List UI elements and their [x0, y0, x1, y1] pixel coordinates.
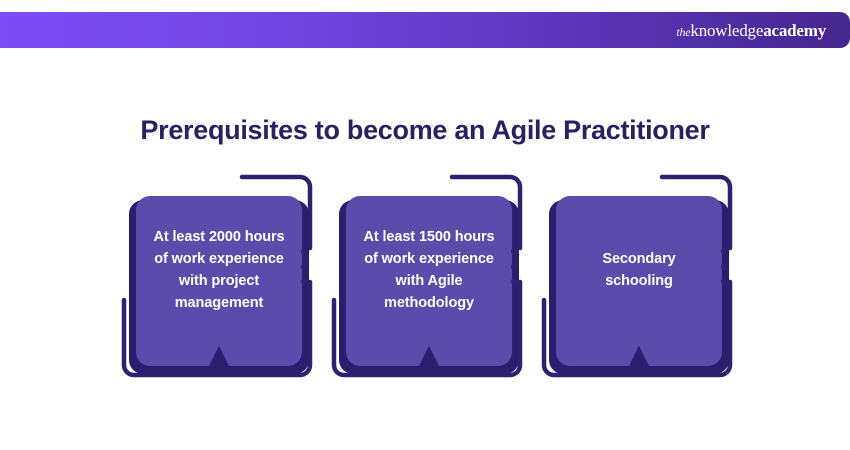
page-title: Prerequisites to become an Agile Practit… [0, 114, 850, 146]
dot-3 [511, 278, 518, 285]
prerequisites-card-group: At least 2000 hours of work experience w… [0, 160, 850, 400]
card-body[interactable]: At least 1500 hours of work experience w… [346, 196, 512, 366]
brand-logo-academy: academy [763, 21, 826, 40]
prerequisite-card-2[interactable]: At least 1500 hours of work experience w… [322, 160, 532, 395]
separator-dots [511, 248, 518, 285]
card-label: At least 1500 hours of work experience w… [358, 226, 500, 314]
header-bar: theknowledgeacademy [0, 12, 850, 48]
brand-logo-knowledge: knowledge [690, 21, 763, 40]
dot-2 [721, 263, 728, 270]
separator-dots [301, 248, 308, 285]
separator-dots [721, 248, 728, 285]
brand-logo-the: the [676, 25, 690, 39]
dot-1 [301, 248, 308, 255]
card-body[interactable]: At least 2000 hours of work experience w… [136, 196, 302, 366]
dot-3 [301, 278, 308, 285]
dot-2 [301, 263, 308, 270]
card-label: At least 2000 hours of work experience w… [148, 226, 290, 314]
dot-1 [721, 248, 728, 255]
card-label: Secondary schooling [568, 248, 710, 292]
prerequisite-card-3[interactable]: Secondary schooling [532, 160, 742, 395]
dot-2 [511, 263, 518, 270]
brand-logo: theknowledgeacademy [676, 22, 826, 39]
dot-1 [511, 248, 518, 255]
card-body[interactable]: Secondary schooling [556, 196, 722, 366]
dot-3 [721, 278, 728, 285]
prerequisite-card-1[interactable]: At least 2000 hours of work experience w… [112, 160, 322, 395]
